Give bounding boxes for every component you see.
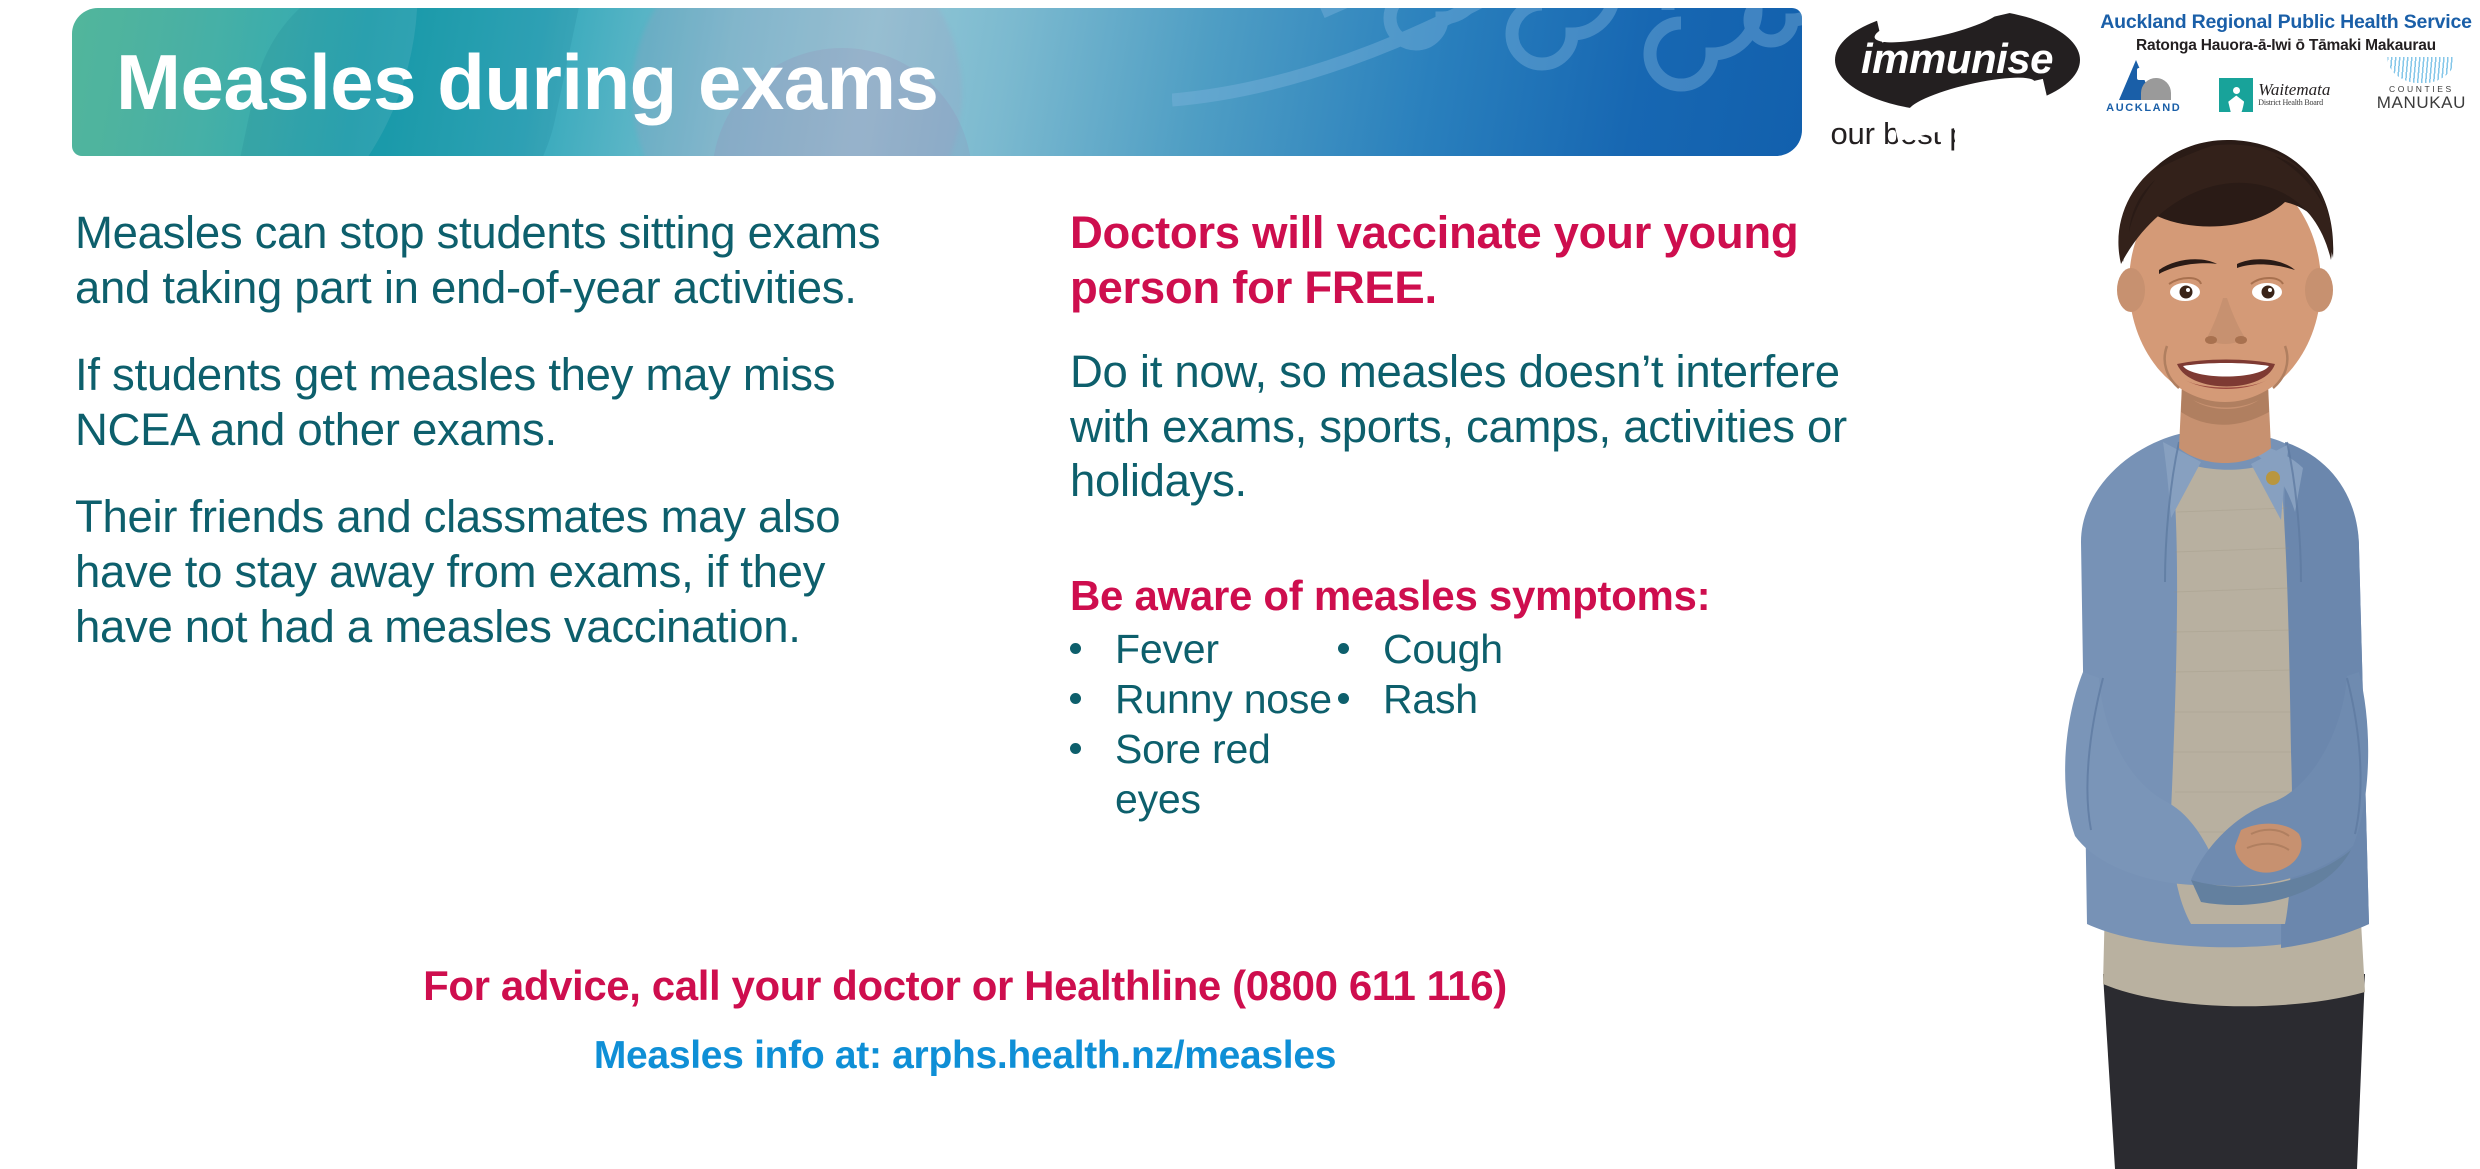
young-man-illustration bbox=[1955, 112, 2480, 1169]
waitemata-dhb-name: Waitemata bbox=[2258, 81, 2339, 98]
list-item: Fever bbox=[1070, 624, 1338, 674]
koru-spiral-motif-icon bbox=[1172, 8, 1802, 156]
symptoms-heading: Be aware of measles symptoms: bbox=[1070, 572, 1900, 620]
counties-manukau-manukau-label: MANUKAU bbox=[2377, 94, 2466, 111]
do-it-now-paragraph: Do it now, so measles doesn’t interfere … bbox=[1070, 345, 1900, 509]
footer: For advice, call your doctor or Healthli… bbox=[0, 962, 1930, 1078]
header-banner: Measles during exams bbox=[72, 8, 1802, 156]
waitemata-dhb-subtitle: District Health Board bbox=[2258, 98, 2339, 107]
symptoms-list: Fever Runny nose Sore red eyes Cough Ras… bbox=[1070, 624, 1900, 824]
list-item: Rash bbox=[1338, 674, 1606, 724]
bullet-icon bbox=[1070, 693, 1081, 704]
symptoms-column-1: Fever Runny nose Sore red eyes bbox=[1070, 624, 1338, 824]
symptoms-column-2: Cough Rash bbox=[1338, 624, 1606, 824]
healthline-advice-text: For advice, call your doctor or Healthli… bbox=[0, 962, 1930, 1010]
bullet-icon bbox=[1070, 743, 1081, 754]
arphs-title: Auckland Regional Public Health Service bbox=[2100, 12, 2472, 33]
arphs-subtitle-maori: Ratonga Hauora-ā-Iwi ō Tāmaki Makaurau bbox=[2100, 37, 2472, 55]
list-item: Cough bbox=[1338, 624, 1606, 674]
middle-text-column: Doctors will vaccinate your young person… bbox=[1070, 206, 1900, 824]
left-paragraph-3: Their friends and classmates may also ha… bbox=[75, 490, 920, 654]
symptom-label: Fever bbox=[1115, 624, 1219, 674]
immunise-wordmark: immunise bbox=[1835, 35, 2080, 83]
auckland-dhb-mark-icon bbox=[2113, 60, 2175, 100]
bullet-icon bbox=[1338, 693, 1349, 704]
immunise-logo-mark: immunise bbox=[1835, 8, 2080, 112]
counties-manukau-fan-icon bbox=[2387, 57, 2455, 83]
symptom-label: Sore red eyes bbox=[1115, 724, 1338, 824]
list-item: Runny nose bbox=[1070, 674, 1338, 724]
symptom-label: Runny nose bbox=[1115, 674, 1332, 724]
left-paragraph-2: If students get measles they may miss NC… bbox=[75, 348, 920, 457]
symptom-label: Rash bbox=[1383, 674, 1478, 724]
left-text-column: Measles can stop students sitting exams … bbox=[75, 206, 920, 654]
list-item: Sore red eyes bbox=[1070, 724, 1338, 824]
left-paragraph-1: Measles can stop students sitting exams … bbox=[75, 206, 920, 315]
page-title: Measles during exams bbox=[116, 43, 938, 121]
vaccinate-free-heading: Doctors will vaccinate your young person… bbox=[1070, 206, 1900, 315]
measles-info-url: Measles info at: arphs.health.nz/measles bbox=[0, 1034, 1930, 1078]
bullet-icon bbox=[1070, 643, 1081, 654]
young-man-photo bbox=[1955, 112, 2480, 1169]
bullet-icon bbox=[1338, 643, 1349, 654]
symptom-label: Cough bbox=[1383, 624, 1503, 674]
